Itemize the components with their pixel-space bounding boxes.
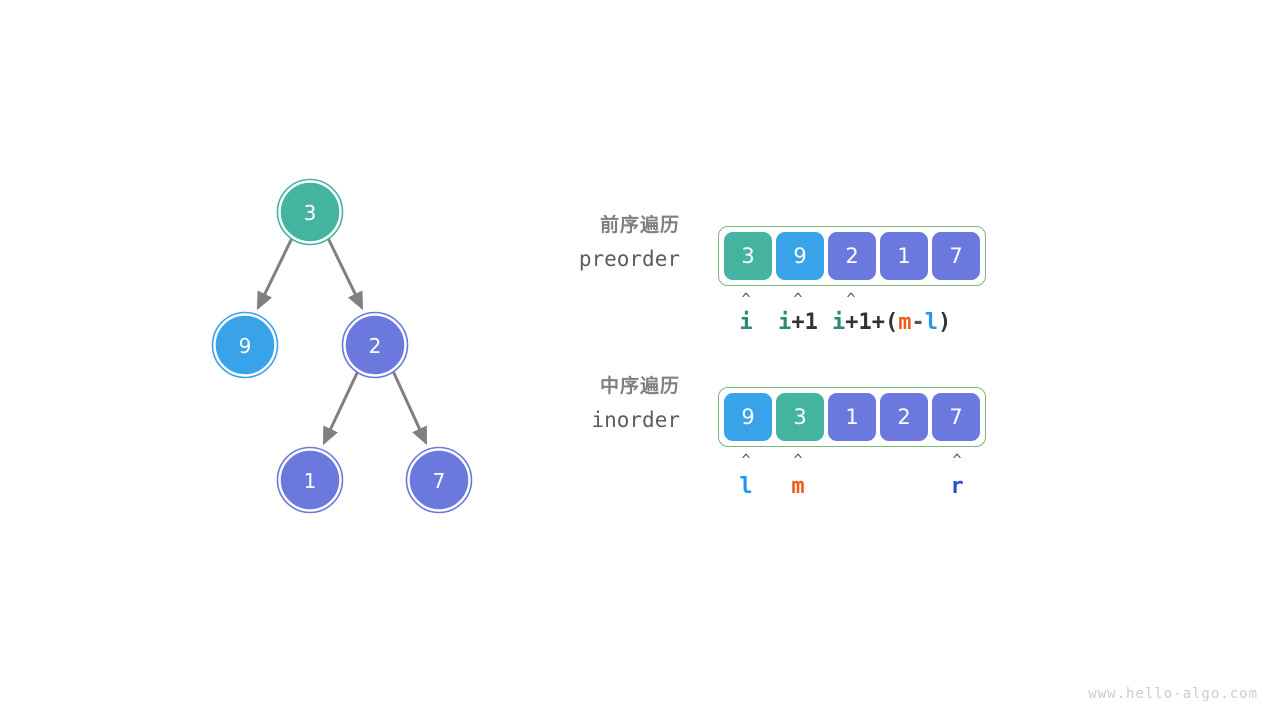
inorder-array: 9 3 1 2 7 — [718, 387, 986, 447]
ptr-token-i: i — [778, 310, 791, 335]
preorder-cell-2[interactable]: 2 — [828, 232, 876, 280]
preorder-cell-1[interactable]: 9 — [776, 232, 824, 280]
preorder-caret-1: ^ — [793, 292, 802, 307]
preorder-cell-0[interactable]: 3 — [724, 232, 772, 280]
ptr-token-l: l — [925, 310, 938, 335]
inorder-cell-1[interactable]: 3 — [776, 393, 824, 441]
ptr-token-plus1: +1 — [791, 310, 818, 335]
ptr-token-i: i — [832, 310, 845, 335]
cell-value: 7 — [949, 405, 962, 429]
inorder-cn-label: 中序遍历 — [500, 373, 680, 399]
cell-value: 9 — [793, 244, 806, 268]
diagram-canvas: 3 9 2 1 7 前序遍历 preorder 3 — [0, 0, 1280, 720]
edge-3-to-9 — [258, 238, 292, 308]
tree-node-label: 3 — [304, 201, 317, 225]
cell-value: 7 — [949, 244, 962, 268]
inorder-en-label: inorder — [500, 405, 680, 435]
preorder-array: 3 9 2 1 7 — [718, 226, 986, 286]
tree-node-label: 9 — [239, 334, 252, 358]
tree-node-7[interactable]: 7 — [407, 448, 472, 513]
ptr-token-close: ) — [938, 310, 951, 335]
preorder-en-label: preorder — [500, 244, 680, 274]
inorder-cell-2[interactable]: 1 — [828, 393, 876, 441]
watermark-url: www.hello-algo.com — [1088, 686, 1258, 702]
tree-node-label: 2 — [369, 334, 382, 358]
tree-node-label: 7 — [433, 469, 446, 493]
cell-value: 3 — [793, 405, 806, 429]
preorder-cn-label: 前序遍历 — [500, 212, 680, 238]
inorder-cell-0[interactable]: 9 — [724, 393, 772, 441]
binary-tree-graphic: 3 9 2 1 7 — [180, 150, 520, 550]
inorder-row-labels: 中序遍历 inorder — [500, 373, 680, 435]
cell-value: 3 — [741, 244, 754, 268]
cell-value: 2 — [845, 244, 858, 268]
cell-value: 1 — [897, 244, 910, 268]
cell-value: 1 — [845, 405, 858, 429]
preorder-cell-4[interactable]: 7 — [932, 232, 980, 280]
preorder-row-labels: 前序遍历 preorder — [500, 212, 680, 274]
inorder-caret-m: ^ — [793, 453, 802, 468]
ptr-token-m: m — [898, 310, 911, 335]
preorder-ptr-i: i — [739, 312, 752, 334]
inorder-ptr-r: r — [950, 476, 963, 498]
preorder-caret-0: ^ — [741, 292, 750, 307]
cell-value: 9 — [741, 405, 754, 429]
inorder-caret-l: ^ — [741, 453, 750, 468]
inorder-cell-4[interactable]: 7 — [932, 393, 980, 441]
edge-3-to-2 — [328, 238, 362, 308]
ptr-token-dash: - — [911, 310, 924, 335]
tree-node-1[interactable]: 1 — [278, 448, 343, 513]
cell-value: 2 — [897, 405, 910, 429]
inorder-caret-r: ^ — [952, 453, 961, 468]
edge-2-to-1 — [324, 371, 358, 443]
edge-2-to-7 — [393, 371, 426, 443]
inorder-cell-3[interactable]: 2 — [880, 393, 928, 441]
preorder-ptr-formula: i+1+(m-l) — [832, 312, 951, 334]
preorder-ptr-i-plus-1: i+1 — [778, 312, 818, 334]
tree-node-3[interactable]: 3 — [278, 180, 343, 245]
preorder-cell-3[interactable]: 1 — [880, 232, 928, 280]
inorder-ptr-m: m — [791, 476, 804, 498]
preorder-caret-2: ^ — [846, 292, 855, 307]
ptr-token-mid: +1+( — [845, 310, 898, 335]
inorder-ptr-l: l — [739, 476, 752, 498]
tree-node-label: 1 — [304, 469, 317, 493]
tree-node-9[interactable]: 9 — [213, 313, 278, 378]
tree-node-2[interactable]: 2 — [343, 313, 408, 378]
